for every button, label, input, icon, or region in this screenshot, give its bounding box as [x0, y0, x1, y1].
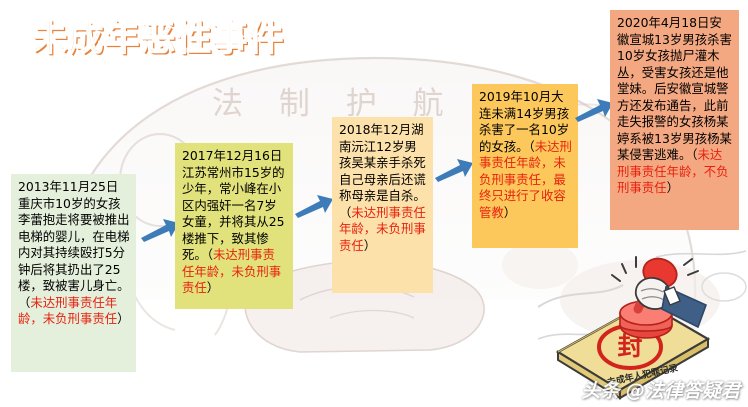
event-box-2017-changzhou: 2017年12月16日江苏常州市15岁的少年，常小峰在小区内强奸一名7岁女童，并…: [175, 143, 293, 309]
event-note-text: 未达刑事责任年龄，未负刑事责任: [339, 205, 426, 253]
event-body-text: 2020年4月18日安徽宣城13岁男孩杀害10岁女孩抛尸灌木丛，受害女孩还是他堂…: [617, 15, 732, 162]
event-box-2018-yuanjiang: 2018年12月湖南沅江12岁男孩吴某亲手杀死自己母亲后还谎称母亲是自杀。（未达…: [332, 117, 433, 293]
event-note-tail: ）: [667, 180, 679, 195]
event-box-2020-xuancheng: 2020年4月18日安徽宣城13岁男孩杀害10岁女孩抛尸灌木丛，受害女孩还是他堂…: [610, 10, 739, 230]
event-note-tail: ）: [504, 205, 516, 220]
page-title: 未成年恶性事件: [32, 10, 284, 61]
event-box-2019-dalian: 2019年10月大连未满14岁男孩杀害了一名10岁的女孩。（未达刑事责任年龄，未…: [472, 84, 578, 248]
flow-arrow-4: [574, 96, 614, 122]
flow-arrow-3: [434, 156, 474, 182]
flow-arrow-2: [294, 192, 334, 218]
slide-canvas: 法 制 护 航 未成年恶性事件 2013年11月25日重庆市10岁的女孩李蕾抱走…: [0, 0, 748, 407]
flow-arrow-1: [140, 216, 180, 242]
event-body-text: 2013年11月25日重庆市10岁的女孩李蕾抱走将要被推出电梯的婴儿，在电梯内对…: [18, 179, 130, 310]
event-body-text: 2017年12月16日江苏常州市15岁的少年，常小峰在小区内强奸一名7岁女童，并…: [182, 148, 285, 262]
event-box-2013-chongqing: 2013年11月25日重庆市10岁的女孩李蕾抱走将要被推出电梯的婴儿，在电梯内对…: [11, 174, 136, 372]
event-note-text: 未达刑事责任年龄，未负刑事责任: [18, 295, 117, 327]
event-note-tail: ）: [117, 311, 129, 326]
event-note-tail: ）: [364, 238, 376, 253]
channel-watermark: 头条 @法律答疑君: [581, 376, 740, 403]
event-note-tail: ）: [207, 280, 219, 295]
